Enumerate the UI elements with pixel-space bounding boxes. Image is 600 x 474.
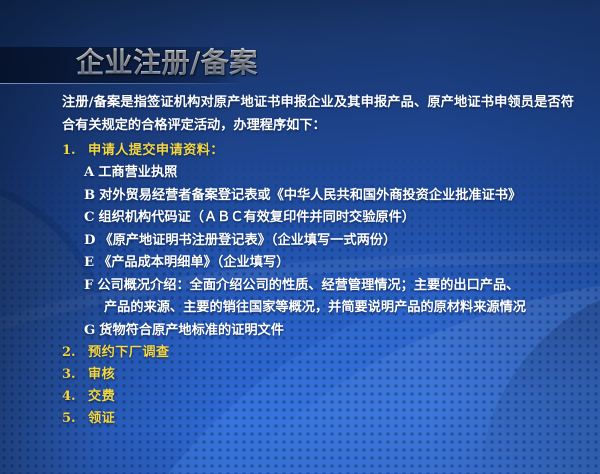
step-label: 申请人提交申请资料：: [88, 140, 224, 162]
procedure-step-5: 5. 领证: [0, 408, 600, 430]
required-documents-list: A 工商营业执照 B 对外贸易经营者备案登记表或《中华人民共和国外商投资企业批准…: [0, 162, 600, 342]
step-label: 领证: [88, 408, 115, 430]
procedure-step-3: 3. 审核: [0, 364, 600, 386]
step-marker: 2.: [62, 342, 88, 364]
document-text: 货物符合原产地标准的证明文件: [99, 320, 284, 343]
step-label: 交费: [88, 386, 115, 408]
document-marker: A: [84, 162, 94, 185]
procedure-step-1: 1. 申请人提交申请资料：: [0, 140, 600, 162]
step-marker: 1.: [62, 140, 88, 162]
intro-paragraph: 注册/备案是指签证机构对原产地证书申报企业及其申报产品、原产地证书申领员是否符合…: [0, 92, 600, 137]
procedure-step-2: 2. 预约下厂调查: [0, 342, 600, 364]
document-item-b: B 对外贸易经营者备案登记表或《中华人民共和国外商投资企业批准证书》: [0, 185, 600, 208]
document-item-g: G 货物符合原产地标准的证明文件: [0, 320, 600, 343]
step-marker: 4.: [62, 386, 88, 408]
step-marker: 3.: [62, 364, 88, 386]
required-documents-group: A 工商营业执照 B 对外贸易经营者备案登记表或《中华人民共和国外商投资企业批准…: [0, 162, 600, 342]
document-marker: F: [84, 275, 93, 298]
step-marker: 5.: [62, 408, 88, 430]
document-item-a: A 工商营业执照: [0, 162, 600, 185]
document-item-f-continuation: 产品的来源、主要的销往国家等概况，并简要说明产品的原材料来源情况: [0, 297, 600, 320]
document-text: 工商营业执照: [98, 162, 177, 185]
presentation-slide: 企业注册/备案 企业注册/备案 注册/备案是指签证机构对原产地证书申报企业及其申…: [0, 0, 600, 474]
document-item-f: F 公司概况介绍：全面介绍公司的性质、经营管理情况；主要的出口产品、: [0, 275, 600, 298]
document-marker: C: [84, 207, 95, 230]
document-marker: G: [84, 320, 95, 343]
step-label: 预约下厂调查: [88, 342, 170, 364]
document-text: 对外贸易经营者备案登记表或《中华人民共和国外商投资企业批准证书》: [99, 185, 521, 208]
step-label: 审核: [88, 364, 115, 386]
page-title: 企业注册/备案: [76, 43, 258, 83]
document-text: 组织机构代码证（ＡＢＣ有效复印件并同时交验原件）: [99, 207, 416, 230]
procedure-step-list: 1. 申请人提交申请资料： A 工商营业执照 B 对外贸易经营者备案登记表或《中…: [0, 140, 600, 430]
document-text: 《产品成本明细单》（企业填写）: [98, 252, 289, 275]
document-marker: E: [84, 252, 94, 275]
document-marker: B: [84, 185, 95, 208]
document-item-c: C 组织机构代码证（ＡＢＣ有效复印件并同时交验原件）: [0, 207, 600, 230]
document-item-e: E 《产品成本明细单》（企业填写）: [0, 252, 600, 275]
document-text: 公司概况介绍：全面介绍公司的性质、经营管理情况；主要的出口产品、: [97, 275, 519, 298]
slide-body: 注册/备案是指签证机构对原产地证书申报企业及其申报产品、原产地证书申领员是否符合…: [0, 92, 600, 430]
document-marker: D: [84, 230, 95, 253]
procedure-step-4: 4. 交费: [0, 386, 600, 408]
document-text: 《原产地证明书注册登记表》（企业填写一式两份）: [99, 230, 396, 253]
document-item-d: D 《原产地证明书注册登记表》（企业填写一式两份）: [0, 230, 600, 253]
